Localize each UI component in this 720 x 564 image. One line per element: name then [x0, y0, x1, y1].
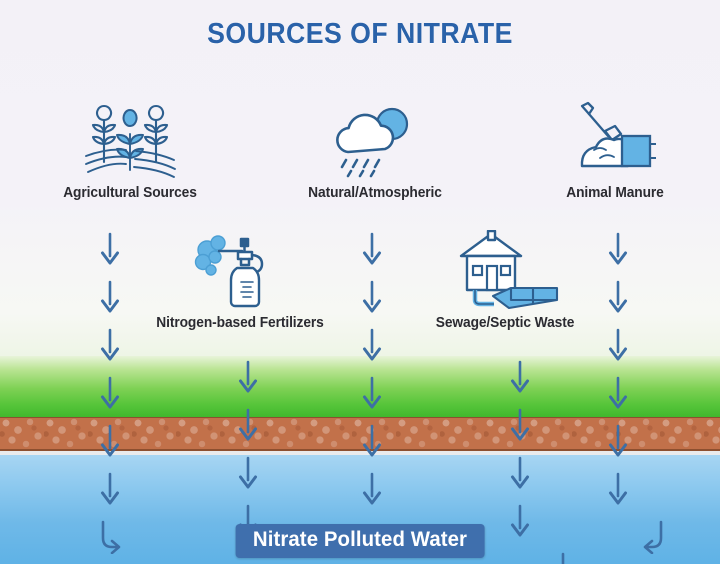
down-arrow-icon	[98, 280, 122, 314]
down-arrow-icon	[360, 472, 384, 506]
curved-arrow-icon	[510, 552, 534, 564]
source-label: Nitrogen-based Fertilizers	[145, 315, 335, 331]
infographic-canvas: SOURCES OF NITRATE	[0, 0, 720, 564]
result-badge: Nitrate Polluted Water	[236, 524, 485, 558]
down-arrow-icon	[98, 328, 122, 362]
curved-arrow-icon	[96, 520, 120, 554]
source-nitrogen-based-fertilizers: Nitrogen-based Fertilizers	[140, 230, 340, 331]
rain-cloud-sun-icon	[275, 100, 475, 180]
down-arrow-icon	[236, 408, 260, 442]
down-arrow-icon	[98, 232, 122, 266]
down-arrow-icon	[360, 424, 384, 458]
source-label: Natural/Atmospheric	[280, 185, 470, 201]
down-arrow-icon	[606, 376, 630, 410]
source-natural-atmospheric: Natural/Atmospheric	[275, 100, 475, 201]
house-septic-tank-icon	[405, 230, 605, 310]
down-arrow-icon	[360, 376, 384, 410]
wheat-field-icon	[30, 100, 230, 180]
down-arrow-icon	[98, 376, 122, 410]
down-arrow-icon	[360, 328, 384, 362]
down-arrow-icon	[360, 280, 384, 314]
source-animal-manure: Animal Manure	[515, 100, 715, 201]
down-arrow-icon	[606, 328, 630, 362]
source-label: Animal Manure	[520, 185, 710, 201]
down-arrow-icon	[236, 456, 260, 490]
down-arrow-icon	[508, 408, 532, 442]
down-arrow-icon	[606, 424, 630, 458]
source-label: Sewage/Septic Waste	[410, 315, 600, 331]
down-arrow-icon	[508, 456, 532, 490]
down-arrow-icon	[236, 360, 260, 394]
result-label: Nitrate Polluted Water	[253, 528, 467, 552]
down-arrow-icon	[508, 504, 532, 538]
spray-bottle-icon	[140, 230, 340, 310]
source-agricultural-sources: Agricultural Sources	[30, 100, 230, 201]
curved-arrow-icon	[608, 520, 632, 554]
page-title: SOURCES OF NITRATE	[29, 18, 691, 51]
source-sewage-septic-waste: Sewage/Septic Waste	[405, 230, 605, 331]
down-arrow-icon	[508, 360, 532, 394]
down-arrow-icon	[98, 472, 122, 506]
down-arrow-icon	[98, 424, 122, 458]
down-arrow-icon	[606, 472, 630, 506]
down-arrow-icon	[606, 280, 630, 314]
down-arrow-icon	[360, 232, 384, 266]
pitchfork-manure-barrel-icon	[515, 100, 715, 180]
down-arrow-icon	[606, 232, 630, 266]
source-label: Agricultural Sources	[35, 185, 225, 201]
